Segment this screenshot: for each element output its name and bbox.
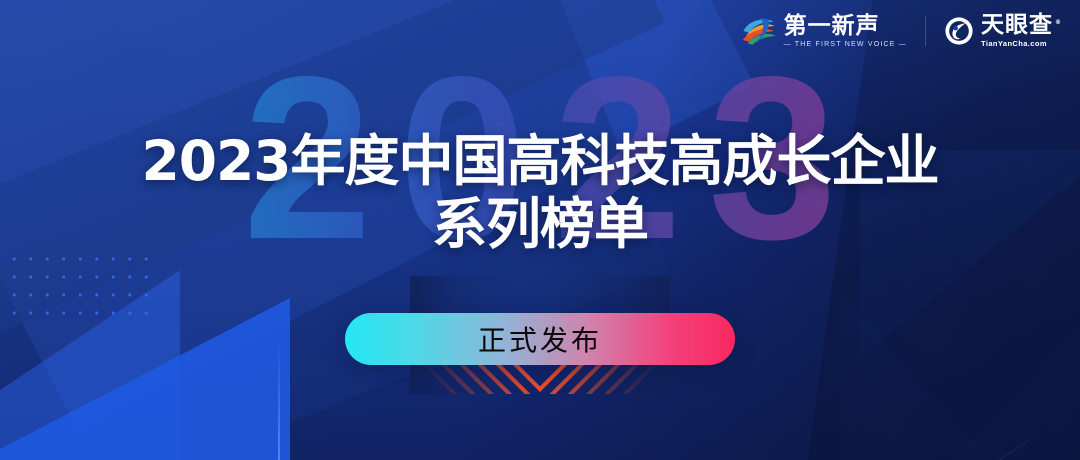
- trademark-symbol: ®: [1055, 19, 1062, 26]
- poster-banner: 2023 第一新声 — THE FIRST NEW VOICE: [0, 0, 1080, 460]
- logo-tianyancha-text: 天眼查® TianYanCha.com: [981, 14, 1062, 48]
- logo-diyixinsheng-name: 第一新声: [784, 15, 907, 38]
- logo-tianyancha-tagline: TianYanCha.com: [981, 40, 1062, 48]
- background-right-triangle-2: [910, 240, 1080, 460]
- swirl-ribbon-logo-icon: [741, 14, 777, 48]
- headline-block: 2023年度中国高科技高成长企业 系列榜单: [0, 132, 1080, 255]
- background-bottom-left-edge: [278, 340, 280, 460]
- headline-line-2: 系列榜单: [0, 195, 1080, 254]
- logo-diyixinsheng[interactable]: 第一新声 — THE FIRST NEW VOICE —: [741, 14, 907, 48]
- logo-diyixinsheng-tagline: — THE FIRST NEW VOICE —: [784, 41, 907, 48]
- release-announcement-label: 正式发布: [478, 319, 602, 359]
- logo-diyixinsheng-text: 第一新声 — THE FIRST NEW VOICE —: [784, 15, 907, 48]
- background-right-hairline: [781, 439, 1030, 460]
- logo-tianyancha[interactable]: 天眼查® TianYanCha.com: [944, 14, 1062, 48]
- camera-aperture-logo-icon: [944, 16, 974, 46]
- header-logo-bar: 第一新声 — THE FIRST NEW VOICE — 天眼查® TianYa…: [741, 14, 1062, 48]
- logo-divider: [925, 16, 926, 46]
- headline-line-1: 2023年度中国高科技高成长企业: [0, 132, 1080, 191]
- logo-tianyancha-name: 天眼查®: [981, 14, 1062, 37]
- release-announcement-pill[interactable]: 正式发布: [345, 313, 735, 365]
- background-bottom-left-triangle-1: [0, 298, 290, 460]
- background-right-triangle-3: [840, 290, 1040, 460]
